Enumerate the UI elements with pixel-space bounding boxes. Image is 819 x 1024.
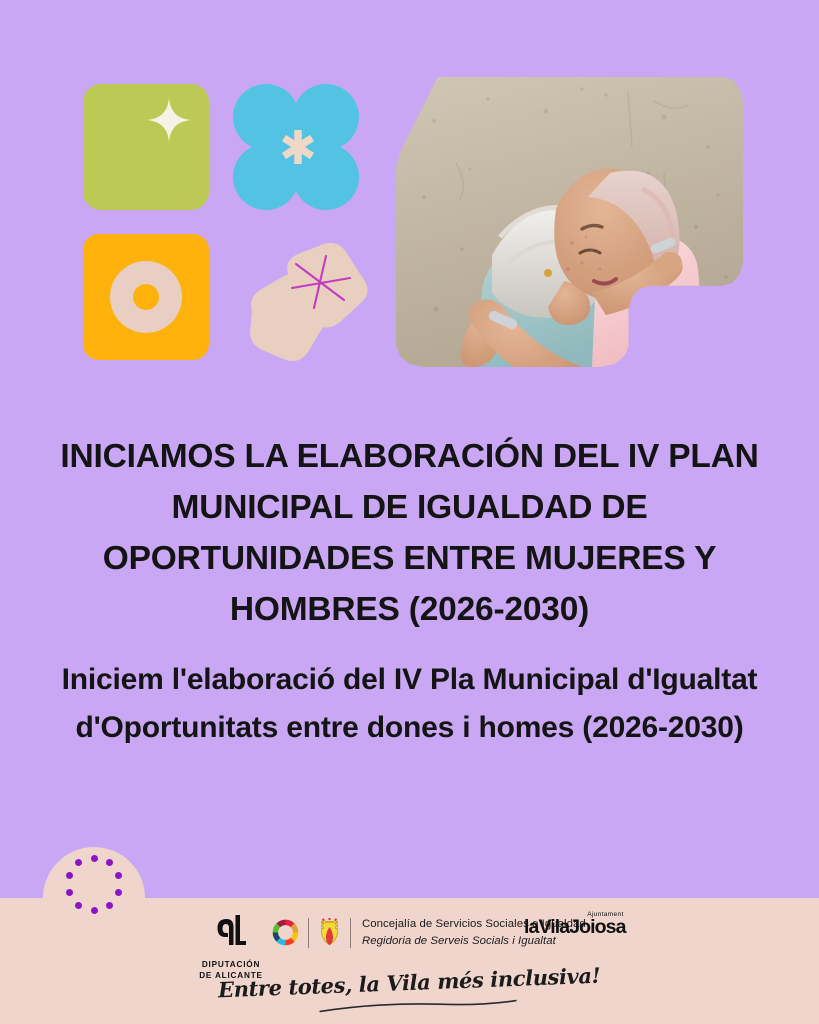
footer-logos: DIPUTACIÓN DE ALICANTE <box>0 898 819 1024</box>
divider <box>350 918 351 948</box>
asterisk-icon <box>280 127 316 167</box>
heading-valencian: Iniciem l'elaboració del IV Pla Municipa… <box>60 656 759 752</box>
blue-clover <box>233 84 359 210</box>
tagline-underline <box>317 997 517 1016</box>
divider <box>308 918 309 948</box>
diputacion-line1: DIPUTACIÓN <box>196 959 266 970</box>
vila-joiosa-coat-of-arms-icon <box>318 918 341 948</box>
ring-dot <box>91 855 98 862</box>
sparkle-star-icon <box>147 98 191 142</box>
tagline-block: Entre totes, la Vila més inclusiva! <box>0 970 819 995</box>
tagline-text: Entre totes, la Vila més inclusiva! <box>218 963 601 1003</box>
ayuntamiento-wordmark: laVilaJoiosa <box>524 916 626 938</box>
headings-block: INICIAMOS LA ELABORACIÓN DEL IV PLAN MUN… <box>0 432 819 752</box>
beige-hexagon-blob <box>240 242 370 372</box>
heading-spanish: INICIAMOS LA ELABORACIÓN DEL IV PLAN MUN… <box>60 432 759 636</box>
ring-dot <box>115 872 122 879</box>
diputacion-monogram-icon <box>211 912 251 952</box>
orange-square <box>83 234 209 360</box>
ayuntamiento-logo: Ajuntament laVilaJoiosa <box>524 918 626 938</box>
ring-dot <box>66 872 73 879</box>
green-square <box>83 84 209 210</box>
poster-canvas: INICIAMOS LA ELABORACIÓN DEL IV PLAN MUN… <box>0 0 819 1024</box>
ring-dot <box>66 889 73 896</box>
ring-dot <box>115 889 122 896</box>
donut-hole <box>133 284 159 310</box>
sdg-color-wheel-icon <box>272 919 299 946</box>
ring-dot <box>75 859 82 866</box>
ring-dot <box>106 859 113 866</box>
ayuntamiento-super: Ajuntament <box>587 911 623 918</box>
embrace-photo <box>396 77 743 367</box>
